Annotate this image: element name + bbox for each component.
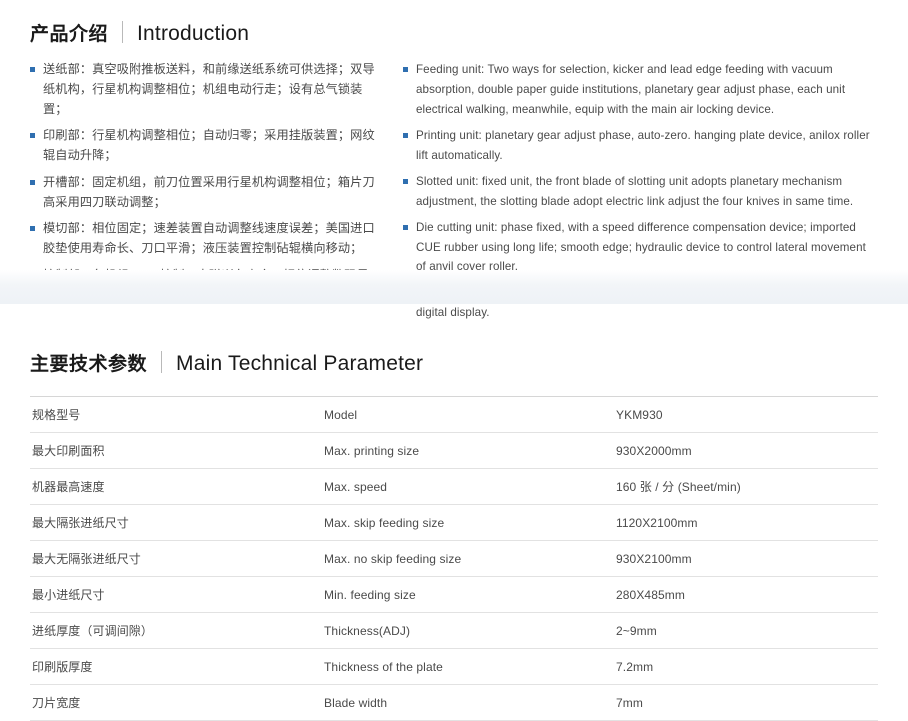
table-row: 印刷版厚度 Thickness of the plate 7.2mm [30, 649, 878, 685]
param-name-en: Max. speed [324, 469, 616, 505]
heading-divider [161, 351, 162, 373]
param-value: 930X2100mm [616, 541, 878, 577]
introduction-heading-en: Introduction [137, 22, 249, 46]
param-value: 280X485mm [616, 577, 878, 613]
param-value: 7.2mm [616, 649, 878, 685]
param-value: YKM930 [616, 397, 878, 433]
list-item: Slotted unit: fixed unit, the front blad… [403, 172, 878, 212]
table-row: 最大隔张进纸尺寸 Max. skip feeding size 1120X210… [30, 505, 878, 541]
param-name-en: Max. skip feeding size [324, 505, 616, 541]
table-row: 最大印刷面积 Max. printing size 930X2000mm [30, 433, 878, 469]
param-name-en: Model [324, 397, 616, 433]
table-row: 机器最高速度 Max. speed 160 张 / 分 (Sheet/min) [30, 469, 878, 505]
list-item: Printing unit: planetary gear adjust pha… [403, 126, 878, 166]
parameters-heading: 主要技术参数 Main Technical Parameter [30, 348, 878, 376]
param-name-cn: 最小进纸尺寸 [30, 577, 324, 613]
param-name-cn: 机器最高速度 [30, 469, 324, 505]
param-name-en: Blade width [324, 685, 616, 721]
list-item: 送纸部：真空吸附推板送料，和前缘送纸系统可供选择；双导纸机构，行星机构调整相位；… [30, 60, 375, 119]
param-name-cn: 最大印刷面积 [30, 433, 324, 469]
param-name-cn: 刀片宽度 [30, 685, 324, 721]
param-name-cn: 规格型号 [30, 397, 324, 433]
introduction-heading-cn: 产品介绍 [30, 19, 108, 46]
list-item: 模切部：相位固定；速差装置自动调整线速度误差；美国进口胶垫使用寿命长、刀口平滑；… [30, 219, 375, 259]
param-value: 930X2000mm [616, 433, 878, 469]
list-item: 印刷部：行星机构调整相位；自动归零；采用挂版装置；网纹辊自动升降； [30, 126, 375, 166]
table-row: 最小进纸尺寸 Min. feeding size 280X485mm [30, 577, 878, 613]
param-name-en: Min. feeding size [324, 577, 616, 613]
param-name-cn: 最大隔张进纸尺寸 [30, 505, 324, 541]
parameters-table: 规格型号 Model YKM930 最大印刷面积 Max. printing s… [30, 396, 878, 721]
param-value: 7mm [616, 685, 878, 721]
param-value: 1120X2100mm [616, 505, 878, 541]
table-row: 最大无隔张进纸尺寸 Max. no skip feeding size 930X… [30, 541, 878, 577]
list-item: Die cutting unit: phase fixed, with a sp… [403, 218, 878, 278]
parameters-heading-cn: 主要技术参数 [30, 349, 147, 376]
table-row: 进纸厚度（可调间隙） Thickness(ADJ) 2~9mm [30, 613, 878, 649]
param-name-en: Thickness(ADJ) [324, 613, 616, 649]
introduction-heading: 产品介绍 Introduction [30, 18, 878, 46]
section-separator-band [0, 270, 908, 304]
param-name-en: Thickness of the plate [324, 649, 616, 685]
param-name-cn: 最大无隔张进纸尺寸 [30, 541, 324, 577]
param-value: 2~9mm [616, 613, 878, 649]
param-name-en: Max. no skip feeding size [324, 541, 616, 577]
param-value: 160 张 / 分 (Sheet/min) [616, 469, 878, 505]
heading-divider [122, 21, 123, 43]
list-item: Feeding unit: Two ways for selection, ki… [403, 60, 878, 120]
param-name-cn: 进纸厚度（可调间隙） [30, 613, 324, 649]
param-name-cn: 印刷版厚度 [30, 649, 324, 685]
param-name-en: Max. printing size [324, 433, 616, 469]
parameters-section: 主要技术参数 Main Technical Parameter 规格型号 Mod… [0, 330, 908, 721]
introduction-list-chinese: 送纸部：真空吸附推板送料，和前缘送纸系统可供选择；双导纸机构，行星机构调整相位；… [30, 60, 375, 305]
list-item: 开槽部：固定机组，前刀位置采用行星机构调整相位；箱片刀高采用四刀联动调整； [30, 173, 375, 213]
parameters-heading-en: Main Technical Parameter [176, 352, 423, 376]
table-row: 刀片宽度 Blade width 7mm [30, 685, 878, 721]
table-row: 规格型号 Model YKM930 [30, 397, 878, 433]
